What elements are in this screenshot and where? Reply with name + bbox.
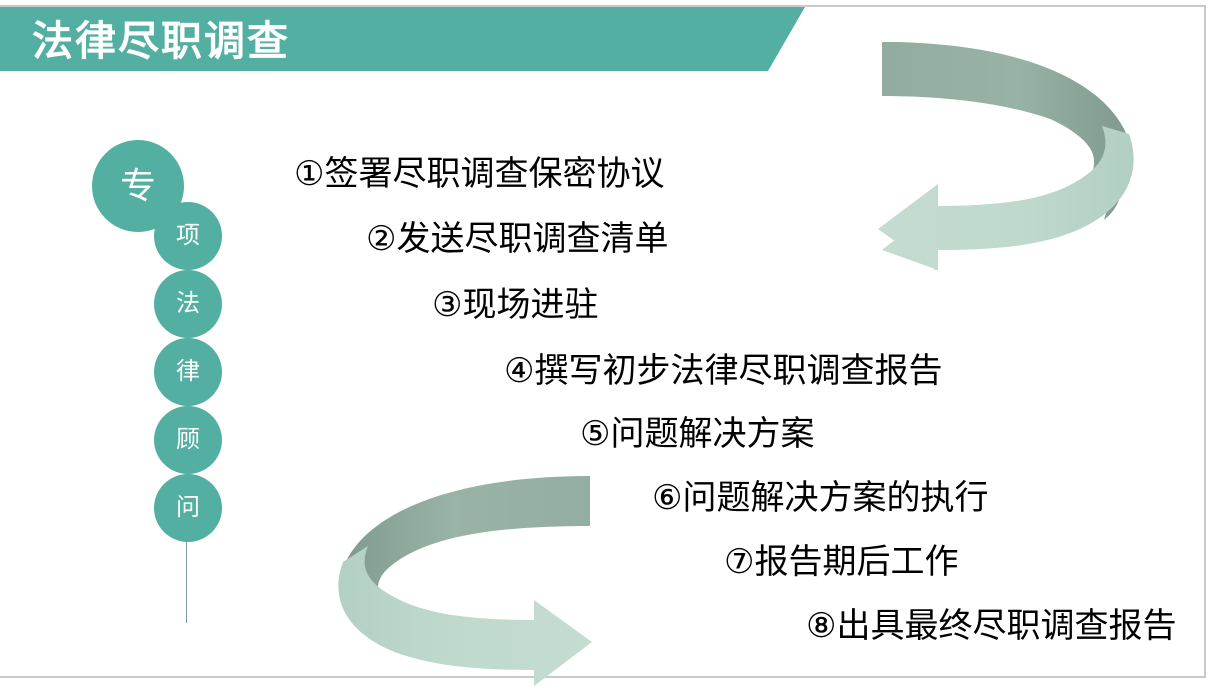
step-item-2: ②发送尽职调查清单 xyxy=(366,219,668,259)
step-item-8: ⑧出具最终尽职调查报告 xyxy=(806,606,1176,646)
step-item-1: ①签署尽职调查保密协议 xyxy=(294,154,664,194)
step-item-3: ③现场进驻 xyxy=(432,285,598,325)
step-item-6: ⑥问题解决方案的执行 xyxy=(652,478,988,518)
step-item-4: ④撰写初步法律尽职调查报告 xyxy=(504,351,942,391)
step-item-5: ⑤问题解决方案 xyxy=(580,414,814,454)
slide-canvas: 法律尽职调查 专 项 法 律 顾 问 xyxy=(0,0,1219,687)
step-item-7: ⑦报告期后工作 xyxy=(724,542,958,582)
step-list: ①签署尽职调查保密协议 ②发送尽职调查清单 ③现场进驻 ④撰写初步法律尽职调查报… xyxy=(0,0,1219,687)
